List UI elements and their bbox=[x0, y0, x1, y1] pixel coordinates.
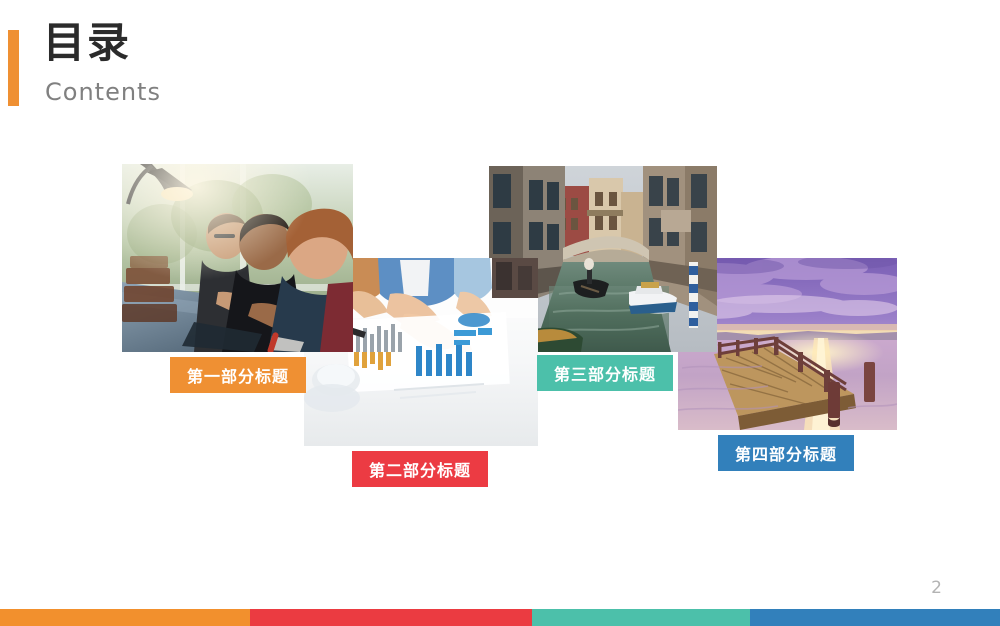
footer-segment-orange bbox=[0, 609, 250, 626]
section-label-2[interactable]: 第二部分标题 bbox=[352, 451, 488, 487]
photo-thumbnail-1[interactable] bbox=[122, 164, 353, 352]
photo-collage bbox=[0, 0, 1000, 560]
footer-segment-blue bbox=[750, 609, 1000, 626]
page-number: 2 bbox=[931, 578, 942, 598]
section-label-4[interactable]: 第四部分标题 bbox=[718, 435, 854, 471]
office-laptops-image bbox=[122, 164, 353, 352]
footer-segment-teal bbox=[532, 609, 750, 626]
footer-segment-red bbox=[250, 609, 532, 626]
slide-canvas: 目录 Contents bbox=[0, 0, 1000, 626]
section-label-3[interactable]: 第三部分标题 bbox=[537, 355, 673, 391]
section-label-1[interactable]: 第一部分标题 bbox=[170, 357, 306, 393]
footer-color-bar bbox=[0, 609, 1000, 626]
